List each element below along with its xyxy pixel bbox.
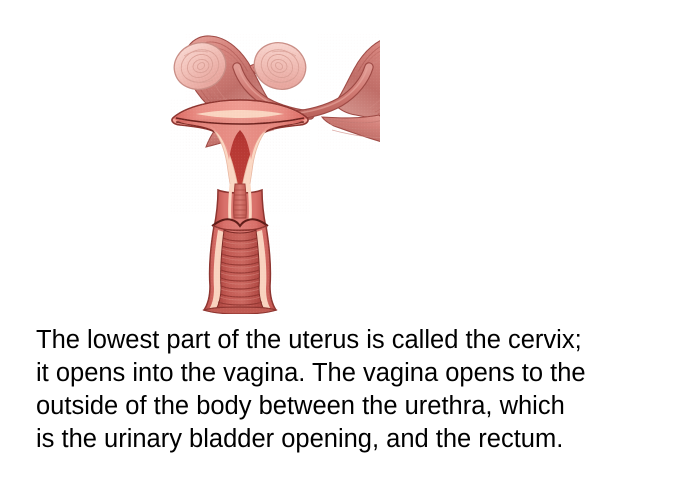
page-root: The lowest part of the uterus is called … xyxy=(0,0,700,480)
caption-text: The lowest part of the uterus is called … xyxy=(36,324,664,456)
anatomy-svg xyxy=(100,14,380,314)
vagina xyxy=(200,224,280,314)
cervical-canal xyxy=(234,184,247,218)
female-reproductive-anatomy-illustration xyxy=(100,14,380,314)
